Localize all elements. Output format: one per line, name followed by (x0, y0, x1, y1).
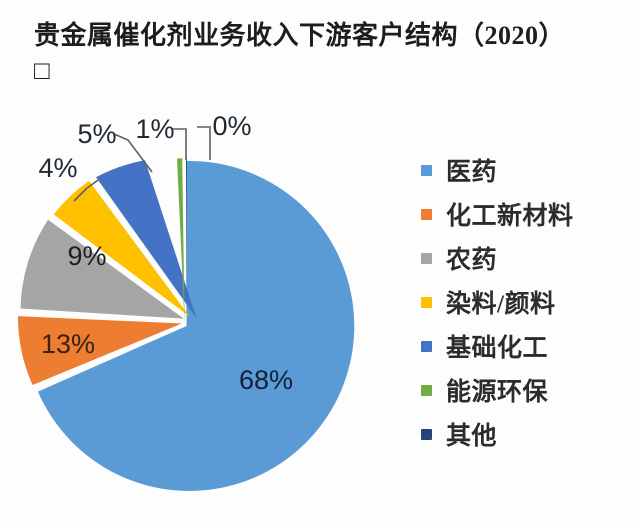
legend-label-chemical-new-materials: 化工新材料 (446, 196, 574, 232)
pie-slice-energy-environment[interactable] (177, 158, 185, 324)
legend-swatch-icon-medicine (421, 165, 432, 176)
pie-label-0: 0% (212, 111, 251, 141)
legend-label-energy-environment: 能源环保 (446, 372, 548, 408)
pie-chart-svg: 68% 13% 9% 4% 5% 1% 0% (0, 0, 420, 521)
pie-label-5: 5% (77, 119, 116, 149)
legend-label-pesticide: 农药 (446, 240, 497, 276)
legend-swatch-icon-pesticide (421, 253, 432, 264)
pie-label-4: 4% (38, 153, 77, 183)
pie-label-1: 1% (135, 114, 174, 144)
legend-swatch-icon-energy-environment (421, 385, 432, 396)
pie-chart: 68% 13% 9% 4% 5% 1% 0% (0, 0, 420, 521)
pie-label-68: 68% (239, 365, 293, 395)
pie-label-13: 13% (41, 329, 95, 359)
legend-item-other[interactable]: 其他 (421, 412, 636, 456)
legend-item-basic-chemicals[interactable]: 基础化工 (421, 324, 636, 368)
legend-label-basic-chemicals: 基础化工 (446, 328, 548, 364)
legend-swatch-icon-dye-pigment (421, 297, 432, 308)
legend-swatch-icon-other (421, 429, 432, 440)
legend-item-energy-environment[interactable]: 能源环保 (421, 368, 636, 412)
legend-label-other: 其他 (446, 416, 497, 452)
legend-item-dye-pigment[interactable]: 染料/颜料 (421, 280, 636, 324)
legend-item-medicine[interactable]: 医药 (421, 148, 636, 192)
chart-legend: 医药 化工新材料 农药 染料/颜料 基础化工 能源环保 其他 (421, 148, 636, 456)
chart-canvas: 贵金属催化剂业务收入下游客户结构（2020） □ 68% (0, 0, 640, 521)
legend-item-pesticide[interactable]: 农药 (421, 236, 636, 280)
legend-label-dye-pigment: 染料/颜料 (446, 284, 555, 320)
legend-swatch-icon-basic-chemicals (421, 341, 432, 352)
legend-item-chemical-new-materials[interactable]: 化工新材料 (421, 192, 636, 236)
pie-label-9: 9% (67, 241, 106, 271)
legend-swatch-icon-chemical-new-materials (421, 209, 432, 220)
leader-line-0pct (197, 127, 210, 160)
legend-label-medicine: 医药 (446, 152, 497, 188)
